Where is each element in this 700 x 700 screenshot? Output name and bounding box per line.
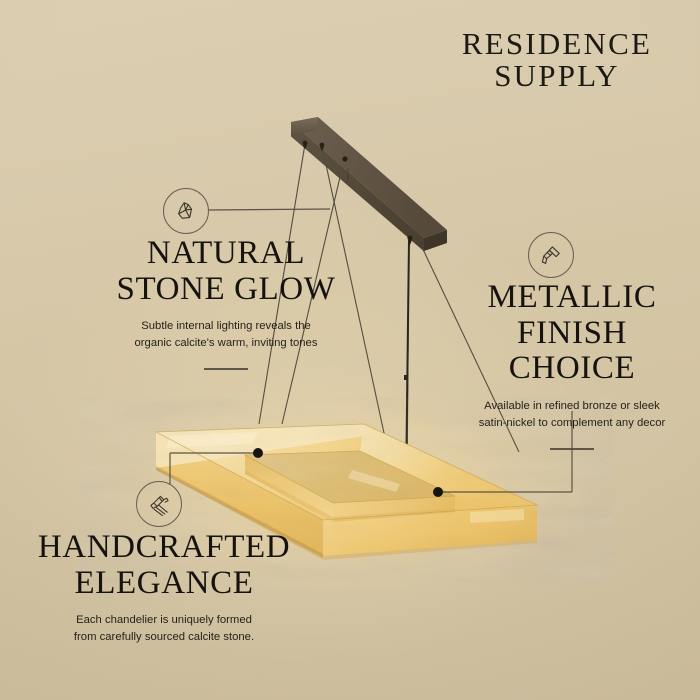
canopy-cable-mounts <box>303 141 413 245</box>
callout-title: NATURAL STONE GLOW <box>96 236 356 307</box>
callout-description: Subtle internal lighting reveals the org… <box>96 318 356 352</box>
callout-description: Available in refined bronze or sleek sat… <box>452 398 692 432</box>
leader-stone-glow <box>209 209 330 210</box>
callout-rule <box>204 368 248 370</box>
bronze-canopy <box>291 117 447 251</box>
callout-metallic-finish-choice: METALLIC FINISH CHOICE Available in refi… <box>452 280 692 450</box>
paintbrush-icon <box>540 244 562 266</box>
suspension-cable-front <box>406 240 409 488</box>
callout-dot-handcrafted <box>253 448 263 458</box>
paintbrush-icon-badge <box>528 232 574 278</box>
brand-wordmark: RESIDENCE SUPPLY <box>442 28 672 92</box>
handcraft-icon-badge <box>136 481 182 527</box>
callout-dots <box>253 448 443 497</box>
callout-title: METALLIC FINISH CHOICE <box>452 280 692 387</box>
callout-description: Each chandelier is uniquely formed from … <box>24 612 304 646</box>
brand-line-2: SUPPLY <box>442 60 672 92</box>
callout-natural-stone-glow: NATURAL STONE GLOW Subtle internal light… <box>96 236 356 370</box>
stone-icon-badge <box>163 188 209 234</box>
handcraft-icon <box>148 493 171 516</box>
callout-handcrafted-elegance: HANDCRAFTED ELEGANCE Each chandelier is … <box>24 530 304 646</box>
callout-title: HANDCRAFTED ELEGANCE <box>24 530 304 601</box>
brand-line-1: RESIDENCE <box>442 28 672 60</box>
stone-icon <box>175 200 197 222</box>
product-infographic-poster: RESIDENCE SUPPLY NATURAL STONE GLOW Subt… <box>0 0 700 700</box>
callout-dot-metallic <box>433 487 443 497</box>
callout-rule <box>550 448 594 450</box>
cable-adjuster <box>404 375 408 380</box>
